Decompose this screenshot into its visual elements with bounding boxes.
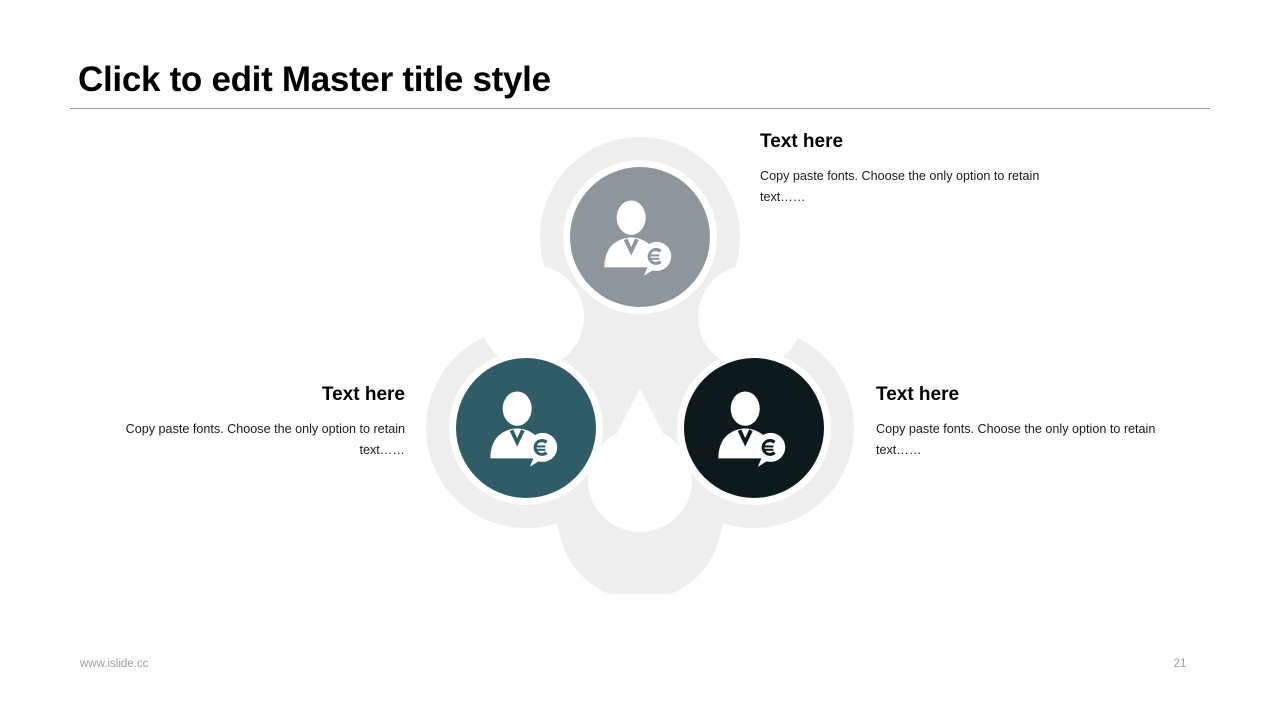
businessman-euro-icon — [482, 384, 570, 472]
text-block-top: Text here Copy paste fonts. Choose the o… — [760, 130, 1060, 208]
page-number: 21 — [1155, 658, 1205, 670]
page-title: Click to edit Master title style — [78, 58, 1208, 102]
title-divider — [70, 108, 1210, 109]
text-block-right-body: Copy paste fonts. Choose the only option… — [876, 419, 1176, 461]
node-right[interactable] — [677, 351, 831, 505]
text-block-right: Text here Copy paste fonts. Choose the o… — [876, 383, 1176, 461]
text-block-top-body: Copy paste fonts. Choose the only option… — [760, 166, 1060, 208]
text-block-left-heading: Text here — [105, 383, 405, 407]
businessman-euro-icon — [596, 193, 684, 281]
node-top[interactable] — [563, 160, 717, 314]
businessman-euro-icon — [710, 384, 798, 472]
text-block-right-heading: Text here — [876, 383, 1176, 407]
text-block-left: Text here Copy paste fonts. Choose the o… — [105, 383, 405, 461]
footer-url[interactable]: www.islide.cc — [80, 658, 148, 670]
slide-canvas: Click to edit Master title style — [0, 0, 1280, 720]
text-block-top-heading: Text here — [760, 130, 1060, 154]
node-left[interactable] — [449, 351, 603, 505]
text-block-left-body: Copy paste fonts. Choose the only option… — [105, 419, 405, 461]
